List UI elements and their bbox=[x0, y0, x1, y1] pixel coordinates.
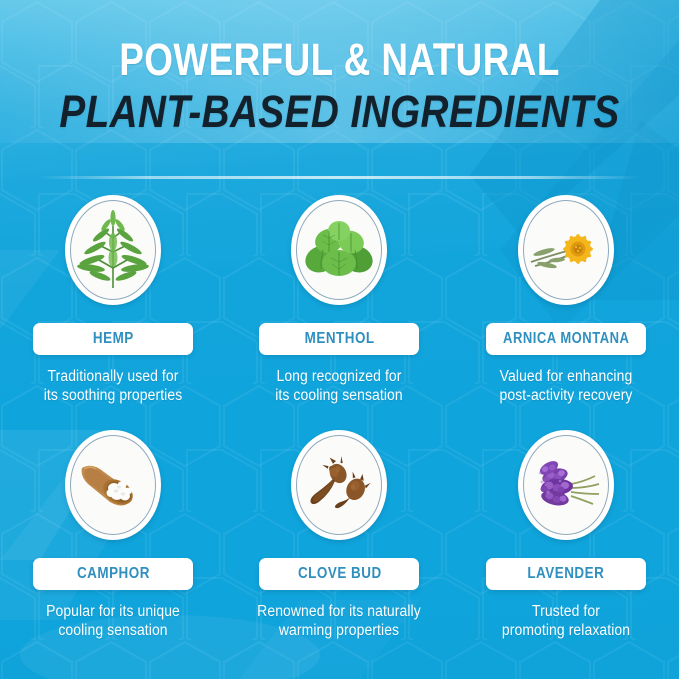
ingredient-name-pill: HEMP bbox=[33, 323, 193, 355]
yellow-flower-icon bbox=[527, 218, 605, 282]
ingredient-name: LAVENDER bbox=[527, 565, 604, 583]
ingredient-name-pill: CAMPHOR bbox=[33, 558, 193, 590]
description-line-2: warming properties bbox=[254, 621, 425, 640]
header-divider bbox=[40, 176, 640, 179]
ingredient-medallion bbox=[291, 195, 387, 305]
ingredient-description: Long recognized for its cooling sensatio… bbox=[254, 367, 425, 405]
ingredient-description: Valued for enhancing post-activity recov… bbox=[480, 367, 651, 405]
description-line-2: its soothing properties bbox=[28, 386, 199, 405]
ingredient-name: CLOVE BUD bbox=[298, 565, 382, 583]
ingredient-medallion bbox=[65, 430, 161, 540]
ingredient-name: MENTHOL bbox=[304, 330, 374, 348]
description-line-2: its cooling sensation bbox=[254, 386, 425, 405]
ingredient-card-menthol: MENTHOL Long recognized for its cooling … bbox=[226, 195, 452, 430]
description-line-1: Traditionally used for bbox=[28, 367, 199, 386]
ingredient-description: Renowned for its naturally warming prope… bbox=[254, 602, 425, 640]
page-title-line2: PLANT-BASED INGREDIENTS bbox=[48, 87, 632, 137]
description-line-1: Valued for enhancing bbox=[480, 367, 651, 386]
header: POWERFUL & NATURAL PLANT-BASED INGREDIEN… bbox=[0, 0, 679, 137]
ingredient-grid: HEMP Traditionally used for its soothing… bbox=[0, 195, 679, 665]
page-title-line1: POWERFUL & NATURAL bbox=[61, 36, 618, 84]
ingredient-name: HEMP bbox=[93, 330, 134, 348]
ingredient-card-arnica-montana: ARNICA MONTANA Valued for enhancing post… bbox=[453, 195, 679, 430]
mint-leaves-icon bbox=[301, 217, 377, 283]
ingredient-name-pill: LAVENDER bbox=[486, 558, 646, 590]
hemp-plant-icon bbox=[75, 208, 151, 292]
ingredient-name: ARNICA MONTANA bbox=[503, 330, 629, 348]
description-line-1: Renowned for its naturally bbox=[254, 602, 425, 621]
ingredient-medallion bbox=[291, 430, 387, 540]
description-line-1: Popular for its unique bbox=[28, 602, 199, 621]
ingredient-medallion bbox=[518, 195, 614, 305]
ingredient-description: Popular for its unique cooling sensation bbox=[28, 602, 199, 640]
ingredient-medallion bbox=[518, 430, 614, 540]
ingredient-name-pill: ARNICA MONTANA bbox=[486, 323, 646, 355]
ingredient-medallion bbox=[65, 195, 161, 305]
ingredient-card-lavender: LAVENDER Trusted for promoting relaxatio… bbox=[453, 430, 679, 665]
description-line-1: Trusted for bbox=[480, 602, 651, 621]
ingredient-name-pill: MENTHOL bbox=[259, 323, 419, 355]
ingredient-card-camphor: CAMPHOR Popular for its unique cooling s… bbox=[0, 430, 226, 665]
clove-buds-icon bbox=[302, 453, 376, 517]
description-line-1: Long recognized for bbox=[254, 367, 425, 386]
ingredient-name: CAMPHOR bbox=[77, 565, 150, 583]
description-line-2: cooling sensation bbox=[28, 621, 199, 640]
ingredient-card-clove-bud: CLOVE BUD Renowned for its naturally war… bbox=[226, 430, 452, 665]
lavender-sprigs-icon bbox=[527, 454, 605, 516]
ingredient-description: Trusted for promoting relaxation bbox=[480, 602, 651, 640]
ingredient-name-pill: CLOVE BUD bbox=[259, 558, 419, 590]
ingredients-infographic: POWERFUL & NATURAL PLANT-BASED INGREDIEN… bbox=[0, 0, 679, 679]
ingredient-card-hemp: HEMP Traditionally used for its soothing… bbox=[0, 195, 226, 430]
wooden-spoon-crystals-icon bbox=[74, 454, 152, 516]
description-line-2: post-activity recovery bbox=[480, 386, 651, 405]
description-line-2: promoting relaxation bbox=[480, 621, 651, 640]
ingredient-description: Traditionally used for its soothing prop… bbox=[28, 367, 199, 405]
